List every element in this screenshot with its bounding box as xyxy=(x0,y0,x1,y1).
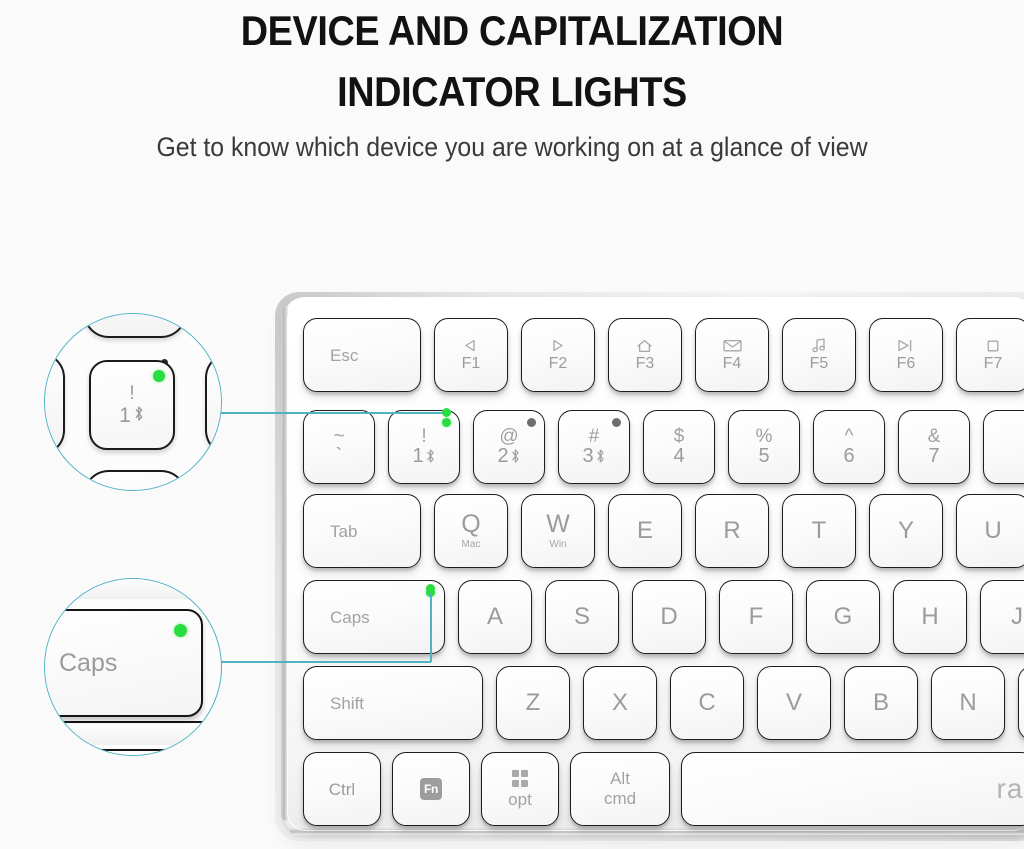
key-n-label: N xyxy=(959,691,976,715)
zoom-caps-strip-below xyxy=(44,721,221,745)
key-esc-label: Esc xyxy=(330,347,358,364)
key-alt-cmd[interactable]: Alt cmd xyxy=(570,752,670,826)
callout-bluetooth-leader-line xyxy=(218,412,450,414)
key-caps-lock[interactable]: Caps xyxy=(303,580,445,654)
key-r-label: R xyxy=(723,519,740,543)
key-f7[interactable]: F7 xyxy=(956,318,1024,392)
key-6[interactable]: ^ 6 xyxy=(813,410,885,484)
key-w-sublabel: Win xyxy=(549,540,566,550)
key-2[interactable]: @ 2 xyxy=(473,410,545,484)
callout-caps-magnifier: Caps xyxy=(44,578,222,756)
key-5[interactable]: % 5 xyxy=(728,410,800,484)
zoom-key-caps-lock-label: Caps xyxy=(44,649,117,678)
page-title-line-1: DEVICE AND CAPITALIZATION xyxy=(51,0,973,61)
callout-caps-leader-line-horizontal xyxy=(218,661,431,663)
key-q-sublabel: Mac xyxy=(462,540,481,550)
key-3-led-indicator xyxy=(612,418,621,427)
key-f4[interactable]: F4 xyxy=(695,318,769,392)
page-header: DEVICE AND CAPITALIZATION INDICATOR LIGH… xyxy=(0,0,1024,165)
key-alt-label: Alt xyxy=(610,769,630,789)
key-fn[interactable]: Fn xyxy=(392,752,470,826)
key-f4-label: F4 xyxy=(723,356,742,372)
fn-icon: Fn xyxy=(420,778,442,800)
key-x-label: X xyxy=(612,691,628,715)
key-4-label: 4 xyxy=(673,446,684,466)
stop-square-icon xyxy=(986,338,1000,353)
key-a[interactable]: A xyxy=(458,580,532,654)
key-v-label: V xyxy=(786,691,802,715)
key-tab[interactable]: Tab xyxy=(303,494,421,568)
key-tilde[interactable]: ~ ` xyxy=(303,410,375,484)
key-u-label: U xyxy=(984,519,1001,543)
key-1-led-indicator xyxy=(442,418,451,427)
key-q-label: Q xyxy=(461,512,480,537)
key-c-label: C xyxy=(698,691,715,715)
key-f2[interactable]: F2 xyxy=(521,318,595,392)
key-z[interactable]: Z xyxy=(496,666,570,740)
callout-caps-leader-endpoint xyxy=(426,584,435,593)
bluetooth-icon xyxy=(133,405,145,426)
brand-logo: rap xyxy=(997,773,1024,805)
mail-icon xyxy=(723,338,742,353)
zoom-key-1-shift-label: ! xyxy=(129,384,134,403)
key-ctrl[interactable]: Ctrl xyxy=(303,752,381,826)
key-f5[interactable]: F5 xyxy=(782,318,856,392)
key-u[interactable]: U xyxy=(956,494,1024,568)
key-y[interactable]: Y xyxy=(869,494,943,568)
key-8[interactable] xyxy=(983,410,1024,484)
zoom-key-1-led-indicator xyxy=(153,370,165,382)
key-f6[interactable]: F6 xyxy=(869,318,943,392)
key-3[interactable]: # 3 xyxy=(558,410,630,484)
zoom-caps-strip-bottom xyxy=(44,749,221,756)
key-f[interactable]: F xyxy=(719,580,793,654)
key-b-label: B xyxy=(873,691,889,715)
play-next-icon xyxy=(897,338,915,353)
key-y-label: Y xyxy=(898,519,914,543)
key-w[interactable]: W Win xyxy=(521,494,595,568)
key-j-label: J xyxy=(1011,605,1023,629)
key-7-label: 7 xyxy=(928,446,939,466)
key-e-label: E xyxy=(637,519,653,543)
key-5-label: 5 xyxy=(758,446,769,466)
key-g[interactable]: G xyxy=(806,580,880,654)
zoom-neighbor-top xyxy=(83,313,187,338)
keyboard-left-edge xyxy=(281,306,288,821)
zoom-key-caps-lock: Caps xyxy=(44,609,203,717)
key-2-led-indicator xyxy=(527,418,536,427)
key-c[interactable]: C xyxy=(670,666,744,740)
home-icon xyxy=(636,338,653,353)
callout-bluetooth-magnifier: ! 1 xyxy=(44,313,222,491)
key-cmd-label: cmd xyxy=(604,789,636,809)
key-f5-label: F5 xyxy=(810,356,829,372)
key-n[interactable]: N xyxy=(931,666,1005,740)
key-e[interactable]: E xyxy=(608,494,682,568)
bluetooth-icon xyxy=(595,448,606,468)
key-opt[interactable]: opt xyxy=(481,752,559,826)
key-w-label: W xyxy=(546,512,570,537)
key-7[interactable]: & 7 xyxy=(898,410,970,484)
music-note-icon xyxy=(811,338,827,353)
key-tilde-shift-label: ~ xyxy=(333,427,344,446)
key-7-shift-label: & xyxy=(928,427,941,446)
key-6-shift-label: ^ xyxy=(845,427,854,446)
key-q[interactable]: Q Mac xyxy=(434,494,508,568)
key-f3-label: F3 xyxy=(636,356,655,372)
key-5-shift-label: % xyxy=(756,427,773,446)
key-f1-label: F1 xyxy=(462,356,481,372)
zoom-neighbor-right xyxy=(205,352,222,456)
key-4[interactable]: $ 4 xyxy=(643,410,715,484)
callout-bluetooth-leader-endpoint xyxy=(442,408,451,417)
key-shift[interactable]: Shift xyxy=(303,666,483,740)
key-t[interactable]: T xyxy=(782,494,856,568)
key-1-label: 1 xyxy=(412,446,423,466)
key-v[interactable]: V xyxy=(757,666,831,740)
key-space[interactable]: rap xyxy=(681,752,1024,826)
back-triangle-icon xyxy=(463,338,478,353)
key-d[interactable]: D xyxy=(632,580,706,654)
key-f1[interactable]: F1 xyxy=(434,318,508,392)
key-s-label: S xyxy=(574,605,590,629)
bluetooth-icon xyxy=(510,448,521,468)
key-h[interactable]: H xyxy=(893,580,967,654)
key-m[interactable] xyxy=(1018,666,1024,740)
zoom-caps-strip-above xyxy=(44,578,221,599)
key-1[interactable]: ! 1 xyxy=(388,410,460,484)
key-s[interactable]: S xyxy=(545,580,619,654)
key-esc[interactable]: Esc xyxy=(303,318,421,392)
key-tilde-label: ` xyxy=(336,446,343,466)
key-2-label: 2 xyxy=(497,446,508,466)
key-f2-label: F2 xyxy=(549,356,568,372)
key-f3[interactable]: F3 xyxy=(608,318,682,392)
key-a-label: A xyxy=(487,605,503,629)
keyboard-illustration: Esc F1 F2 F3 F4 xyxy=(275,292,1024,841)
key-1-shift-label: ! xyxy=(421,427,426,446)
key-shift-label: Shift xyxy=(330,695,364,712)
key-b[interactable]: B xyxy=(844,666,918,740)
key-g-label: G xyxy=(834,605,853,629)
bluetooth-icon xyxy=(425,448,436,468)
zoom-neighbor-left xyxy=(44,352,65,456)
zoom-neighbor-bottom xyxy=(83,470,187,491)
callout-caps-leader-line-vertical xyxy=(430,590,432,662)
key-ctrl-label: Ctrl xyxy=(329,781,355,798)
key-z-label: Z xyxy=(526,691,541,715)
key-r[interactable]: R xyxy=(695,494,769,568)
key-j[interactable]: J xyxy=(980,580,1024,654)
zoom-key-1: ! 1 xyxy=(89,360,175,450)
key-f7-label: F7 xyxy=(984,356,1003,372)
key-4-shift-label: $ xyxy=(674,427,685,446)
key-2-shift-label: @ xyxy=(499,427,518,446)
zoom-key-caps-lock-led-indicator xyxy=(174,624,187,637)
key-3-shift-label: # xyxy=(589,427,600,446)
page-title: DEVICE AND CAPITALIZATION INDICATOR LIGH… xyxy=(51,0,973,122)
key-h-label: H xyxy=(921,605,938,629)
key-tab-label: Tab xyxy=(330,523,357,540)
key-x[interactable]: X xyxy=(583,666,657,740)
zoom-key-1-label: 1 xyxy=(119,405,131,426)
forward-triangle-icon xyxy=(550,338,565,353)
key-caps-lock-label: Caps xyxy=(330,609,370,626)
keyboard-bottom-edge xyxy=(289,828,1024,835)
page-title-line-2: INDICATOR LIGHTS xyxy=(51,61,973,122)
key-d-label: D xyxy=(660,605,677,629)
key-6-label: 6 xyxy=(843,446,854,466)
key-f6-label: F6 xyxy=(897,356,916,372)
key-f-label: F xyxy=(749,605,764,629)
key-3-label: 3 xyxy=(582,446,593,466)
key-t-label: T xyxy=(812,519,827,543)
key-opt-label: opt xyxy=(508,791,532,808)
page-subtitle: Get to know which device you are working… xyxy=(41,122,983,165)
windows-logo-icon xyxy=(512,770,529,787)
